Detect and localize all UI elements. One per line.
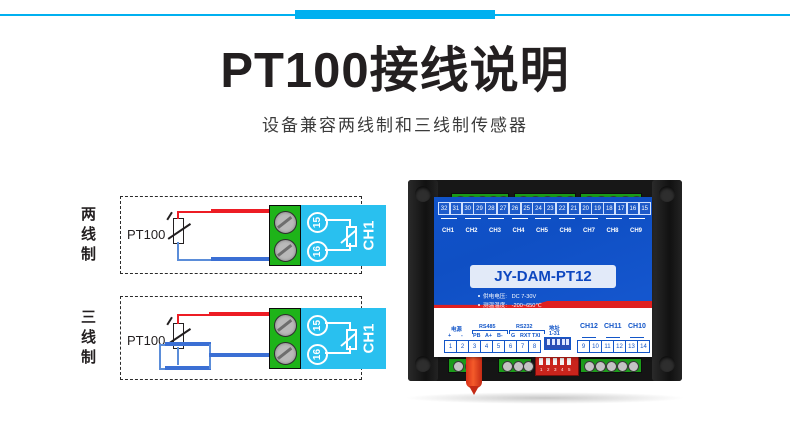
three-wire-terminal-16: 16 — [307, 344, 328, 365]
three-wire-diagram-row: 三 线 制 PT100 15 16 — [72, 296, 362, 380]
face-terminal-29: 29 — [473, 202, 485, 215]
three-wire-label-char-3: 制 — [72, 348, 106, 368]
model-name-plate: JY-DAM-PT12 — [470, 265, 616, 288]
page-subtitle: 设备兼容两线制和三线制传感器 — [0, 111, 790, 136]
face-bottom-terminal-14: 14 — [637, 340, 650, 353]
device-faceplate: 32 31 30 29 28 27 26 25 24 23 22 21 20 1… — [434, 197, 652, 357]
bottom-rs485-pin-ap: A+ — [485, 333, 492, 339]
face-channel-ch1: CH1 — [442, 228, 454, 234]
three-wire-board-panel: 15 16 CH1 — [301, 308, 386, 369]
device-right-bracket — [652, 180, 682, 381]
three-wire-label: 三 线 制 — [72, 308, 106, 369]
face-terminal-22: 22 — [556, 202, 568, 215]
mounting-hole-bottom-right — [659, 356, 675, 372]
face-terminal-18: 18 — [603, 202, 615, 215]
two-wire-label-char-1: 两 — [72, 205, 106, 225]
three-wire-red-wire — [209, 312, 271, 316]
two-wire-label: 两 线 制 — [72, 205, 106, 266]
three-wire-label-char-2: 线 — [72, 328, 106, 348]
face-channel-ch11: CH11 — [604, 323, 622, 330]
two-wire-blue-riser — [177, 242, 179, 260]
bottom-rs232-pin-txi: TXI — [532, 333, 540, 339]
face-terminal-20: 20 — [580, 202, 592, 215]
two-wire-blue-thin — [177, 259, 213, 261]
header: PT100接线说明 设备兼容两线制和三线制传感器 — [0, 46, 790, 136]
spec-voltage-key: 供电电压: — [483, 294, 507, 300]
two-wire-blue-wire — [211, 257, 271, 261]
face-terminal-31: 31 — [450, 202, 462, 215]
bottom-power-pin-plus: + — [448, 333, 451, 339]
antenna-tip — [469, 386, 479, 395]
page-title: PT100接线说明 — [0, 46, 790, 97]
antenna-connector — [466, 354, 482, 388]
face-channel-ch12: CH12 — [580, 323, 598, 330]
face-bottom-terminal-8: 8 — [528, 340, 541, 353]
three-wire-terminal-15: 15 — [307, 315, 328, 336]
three-wire-channel-label: CH1 — [361, 323, 378, 353]
three-wire-screw-top — [274, 314, 297, 337]
face-terminal-19: 19 — [591, 202, 603, 215]
two-wire-sensor-label: PT100 — [127, 227, 165, 242]
face-channel-ch8: CH8 — [607, 228, 619, 234]
face-terminal-28: 28 — [485, 202, 497, 215]
face-channel-ch6: CH6 — [560, 228, 572, 234]
bottom-connector-strip-3 — [580, 358, 642, 373]
three-wire-blue-riser — [177, 347, 179, 365]
two-wire-terminal-15: 15 — [307, 212, 328, 233]
three-wire-label-char-1: 三 — [72, 308, 106, 328]
face-terminal-21: 21 — [568, 202, 580, 215]
three-wire-screw-bottom — [274, 342, 297, 365]
bottom-power-label: 电源 — [451, 325, 462, 333]
address-dip-switch[interactable] — [544, 337, 571, 350]
three-wire-red-riser — [177, 314, 179, 324]
mounting-hole-top-right — [659, 186, 675, 202]
two-wire-board-panel: 15 16 CH1 — [301, 205, 386, 266]
three-wire-loop-left — [159, 344, 161, 369]
three-wire-loop-bottom — [165, 366, 211, 370]
two-wire-diagram-row: 两 线 制 PT100 15 16 — [72, 196, 362, 274]
bottom-rs232-pin-rxt: RXT — [520, 333, 531, 339]
device-photo: 12 34 5 32 31 30 29 28 27 26 25 24 23 22… — [404, 172, 686, 400]
bottom-rs232-pin-g: G — [511, 333, 515, 339]
face-channel-ch4: CH4 — [513, 228, 525, 234]
mounting-hole-bottom-left — [415, 356, 431, 372]
three-wire-red-thin — [177, 314, 211, 316]
two-wire-terminal-16: 16 — [307, 241, 328, 262]
face-channel-ch2: CH2 — [466, 228, 478, 234]
face-terminal-17: 17 — [615, 202, 627, 215]
three-wire-loop-top — [165, 342, 211, 346]
two-wire-channel-label: CH1 — [361, 220, 378, 250]
spec-temperature: 测温温度: -200~650℃ — [483, 301, 542, 309]
dip-switch-red[interactable]: 12 34 5 — [535, 354, 579, 376]
three-wire-terminal-block — [269, 308, 301, 369]
mounting-hole-top-left — [415, 186, 431, 202]
face-terminal-27: 27 — [497, 202, 509, 215]
face-channel-ch9: CH9 — [630, 228, 642, 234]
two-wire-screw-bottom — [274, 239, 297, 262]
face-terminal-25: 25 — [521, 202, 533, 215]
face-terminal-32: 32 — [438, 202, 450, 215]
spec-temperature-key: 测温温度: — [483, 303, 507, 309]
spec-temperature-value: -200~650℃ — [512, 303, 542, 309]
face-terminal-15: 15 — [639, 202, 651, 215]
two-wire-rtd-tick — [166, 212, 172, 220]
face-channel-ch10: CH10 — [628, 323, 646, 330]
three-wire-blue-wire — [209, 353, 271, 357]
spec-ports-key: 通讯端口: — [483, 312, 507, 318]
face-terminal-23: 23 — [544, 202, 556, 215]
top-divider-center-bar — [295, 10, 495, 19]
three-wire-rtd-tick — [166, 317, 172, 325]
three-wire-diagram-box: PT100 15 16 CH1 — [120, 296, 362, 380]
spec-voltage: 供电电压: DC 7-30V — [483, 292, 536, 300]
face-terminal-30: 30 — [462, 202, 474, 215]
two-wire-red-thin — [177, 211, 213, 213]
two-wire-sym-bottom — [325, 249, 351, 251]
face-terminal-26: 26 — [509, 202, 521, 215]
bottom-rs485-pin-pb: PB — [473, 333, 481, 339]
two-wire-sym-top — [325, 219, 351, 221]
three-wire-sym-bottom — [325, 352, 351, 354]
two-wire-terminal-block — [269, 205, 301, 266]
three-wire-sym-top — [325, 322, 351, 324]
face-channel-ch3: CH3 — [489, 228, 501, 234]
two-wire-label-char-3: 制 — [72, 245, 106, 265]
face-terminal-16: 16 — [627, 202, 639, 215]
spec-ports: 通讯端口: RS232 RS485 LORA — [483, 310, 569, 318]
two-wire-screw-top — [274, 211, 297, 234]
bottom-rs485-pin-bm: B- — [497, 333, 503, 339]
face-channel-ch7: CH7 — [583, 228, 595, 234]
face-channel-ch5: CH5 — [536, 228, 548, 234]
two-wire-label-char-2: 线 — [72, 225, 106, 245]
bottom-power-pin-minus: - — [461, 333, 463, 339]
spec-ports-value: RS232 RS485 LORA — [516, 312, 569, 318]
two-wire-red-wire — [211, 209, 271, 213]
two-wire-diagram-box: PT100 15 16 CH1 — [120, 196, 362, 274]
spec-voltage-value: DC 7-30V — [512, 294, 537, 300]
face-terminal-24: 24 — [532, 202, 544, 215]
bottom-connector-strip-2 — [498, 358, 532, 373]
